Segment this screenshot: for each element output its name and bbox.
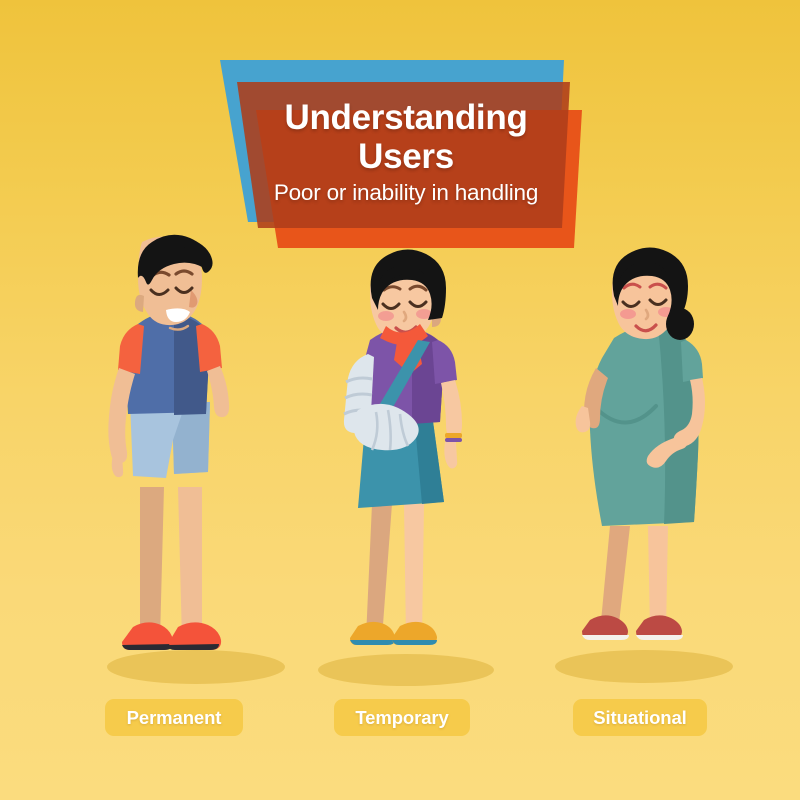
figure-temporary: [318, 290, 508, 680]
banner-title-line-2: Users: [236, 137, 576, 176]
leg-right-permanent: [178, 487, 202, 640]
leg-left-temporary: [366, 504, 392, 638]
hand-right-temporary: [444, 442, 457, 469]
shoe-right-temporary: [392, 622, 437, 645]
caption-pill-situational[interactable]: Situational: [573, 699, 707, 736]
banner-subtitle: Poor or inability in handling: [236, 180, 576, 206]
bracelet-temporary: [445, 433, 462, 438]
figure-permanent: [78, 272, 288, 672]
sleeve-right-temporary: [432, 340, 457, 384]
infographic-canvas: Understanding Users Poor or inability in…: [0, 0, 800, 800]
blush-left-situational: [620, 309, 636, 319]
blush-left-temporary: [378, 311, 394, 321]
caption-label-permanent: Permanent: [127, 707, 222, 729]
shoe-left-temporary: [350, 622, 395, 645]
hair-bun-situational: [666, 308, 694, 340]
sleeve-right-situational: [681, 340, 703, 382]
ear-permanent: [135, 295, 144, 312]
figure-situational: [562, 290, 752, 680]
banner-text-block: Understanding Users Poor or inability in…: [236, 98, 576, 206]
caption-label-temporary: Temporary: [355, 707, 448, 729]
caption-pill-permanent[interactable]: Permanent: [105, 699, 243, 736]
leg-right-temporary: [404, 504, 424, 638]
shoe-left-situational: [582, 615, 629, 640]
leg-left-permanent: [140, 487, 164, 640]
caption-label-situational: Situational: [593, 707, 686, 729]
sleeve-right-permanent: [196, 324, 222, 372]
caption-pill-temporary[interactable]: Temporary: [334, 699, 470, 736]
shoe-right-permanent: [167, 622, 221, 650]
sleeve-left-permanent: [118, 324, 144, 374]
arm-right-stump-permanent: [207, 366, 229, 417]
hand-left-permanent: [112, 452, 123, 477]
shoe-right-situational: [636, 615, 683, 640]
banner-title-line-1: Understanding: [236, 98, 576, 137]
hand-left-situational: [576, 406, 591, 432]
shoe-left-permanent: [122, 622, 173, 650]
bracelet-accent-temporary: [445, 438, 462, 442]
arm-right-temporary: [441, 380, 462, 438]
